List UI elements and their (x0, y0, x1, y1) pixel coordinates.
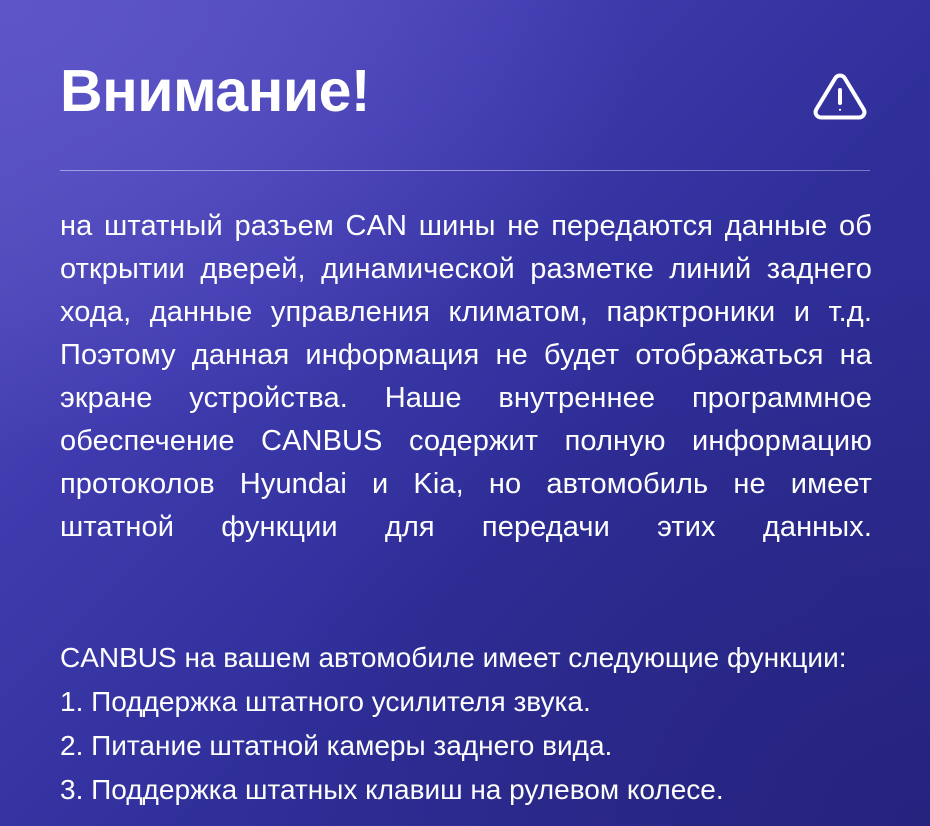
banner-content: на штатный разъем CAN шины не передаются… (60, 205, 872, 812)
paragraph-spacer (60, 592, 872, 636)
header-divider (60, 170, 870, 171)
list-item: 3. Поддержка штатных клавиш на рулевом к… (60, 768, 872, 812)
banner-header: Внимание! (60, 52, 870, 130)
warning-paragraph: на штатный разъем CAN шины не передаются… (60, 205, 872, 592)
page-title: Внимание! (60, 52, 370, 130)
warning-triangle-icon (812, 70, 868, 122)
functions-list: 1. Поддержка штатного усилителя звука. 2… (60, 680, 872, 812)
warning-banner: Внимание! на штатный разъем CAN шины не … (0, 0, 930, 826)
list-item: 2. Питание штатной камеры заднего вида. (60, 724, 872, 768)
list-item: 1. Поддержка штатного усилителя звука. (60, 680, 872, 724)
functions-list-intro: CANBUS на вашем автомобиле имеет следующ… (60, 636, 872, 680)
